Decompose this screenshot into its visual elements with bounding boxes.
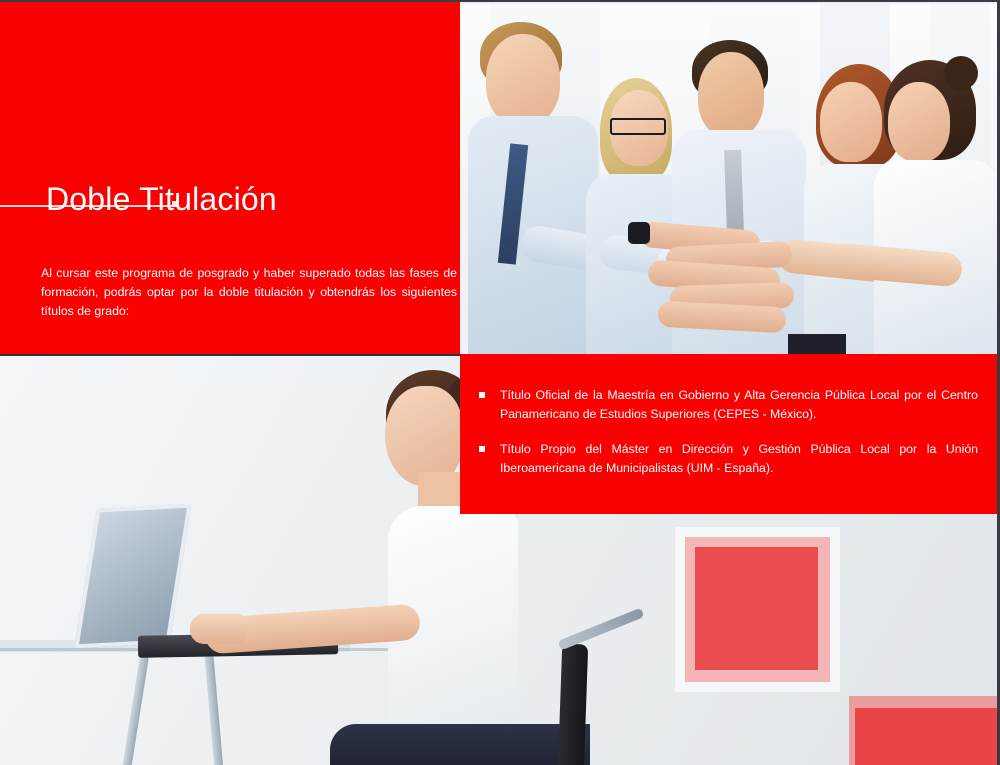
degrees-panel: Título Oficial de la Maestría en Gobiern… [460,354,997,514]
person-trousers [330,724,590,765]
title-panel: Doble Titulación Al cursar este programa… [0,2,460,354]
list-item: Título Oficial de la Maestría en Gobiern… [478,386,978,424]
hand [657,301,786,334]
decorative-square-core [695,547,818,670]
decorative-square-small [849,696,997,765]
list-item: Título Propio del Máster en Dirección y … [478,440,978,478]
decorative-square-large [675,527,840,692]
eyeglasses-icon [610,118,666,135]
person-head [888,82,950,162]
person-hand [190,614,246,644]
page-title: Doble Titulación [46,181,277,218]
square-bullet-icon [479,392,485,398]
wristwatch-icon [628,222,650,244]
square-bullet-icon [479,446,485,452]
intro-paragraph: Al cursar este programa de posgrado y ha… [41,264,457,321]
person-hair-bun [944,56,978,90]
person-head [486,34,560,126]
office-chair-backrest [558,644,588,765]
stacked-hands [640,222,830,342]
slide-canvas: Doble Titulación Al cursar este programa… [0,0,1000,765]
degree-list: Título Oficial de la Maestría en Gobiern… [478,386,978,478]
person-head [385,386,463,486]
decorative-square-core [855,708,997,765]
team-photo [460,4,1000,354]
list-item-label: Título Oficial de la Maestría en Gobiern… [500,388,978,421]
list-item-label: Título Propio del Máster en Dirección y … [500,442,978,475]
person-head [820,82,882,162]
person-head [698,52,764,138]
